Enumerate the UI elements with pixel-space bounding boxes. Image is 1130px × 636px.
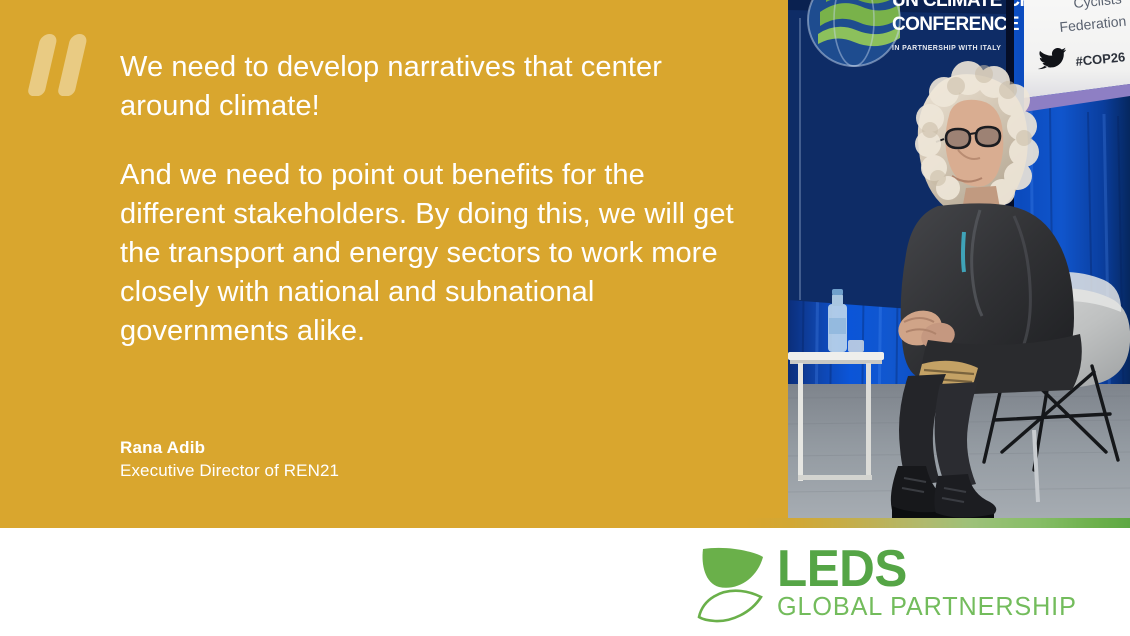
presentation-screen: Cyclists Federation #COP26	[1024, 0, 1130, 112]
logo-subtitle: GLOBAL PARTNERSHIP	[777, 592, 1077, 621]
leds-global-partnership-logo: LEDS GLOBAL PARTNERSHIP	[695, 542, 1086, 624]
footer: LEDS GLOBAL PARTNERSHIP	[0, 528, 1130, 636]
quote-card-slide: We need to develop narratives that cente…	[0, 0, 1130, 636]
attribution: Rana Adib Executive Director of REN21	[120, 436, 720, 483]
logo-title: LEDS	[777, 546, 1071, 592]
gradient-divider	[0, 518, 1130, 528]
banner-line-1: UN CLIMATE CHA	[892, 0, 1047, 11]
logo-wordmark: LEDS GLOBAL PARTNERSHIP	[777, 546, 1086, 621]
double-quote-icon	[28, 34, 96, 100]
leaf-icon	[695, 543, 771, 623]
speaker-photo: UN CLIMATE CHA CONFERENCE UK IN PARTNERS…	[788, 0, 1130, 522]
speaker-photo-illustration: UN CLIMATE CHA CONFERENCE UK IN PARTNERS…	[788, 0, 1130, 522]
speaker-name: Rana Adib	[120, 436, 720, 459]
banner-line-3: IN PARTNERSHIP WITH ITALY	[892, 45, 1001, 52]
speaker-role: Executive Director of REN21	[120, 459, 720, 483]
quote-paragraph-1: We need to develop narratives that cente…	[120, 48, 740, 126]
quote-panel: We need to develop narratives that cente…	[0, 0, 1130, 528]
quote-text-block: We need to develop narratives that cente…	[120, 48, 740, 351]
quote-paragraph-2: And we need to point out benefits for th…	[120, 156, 740, 351]
